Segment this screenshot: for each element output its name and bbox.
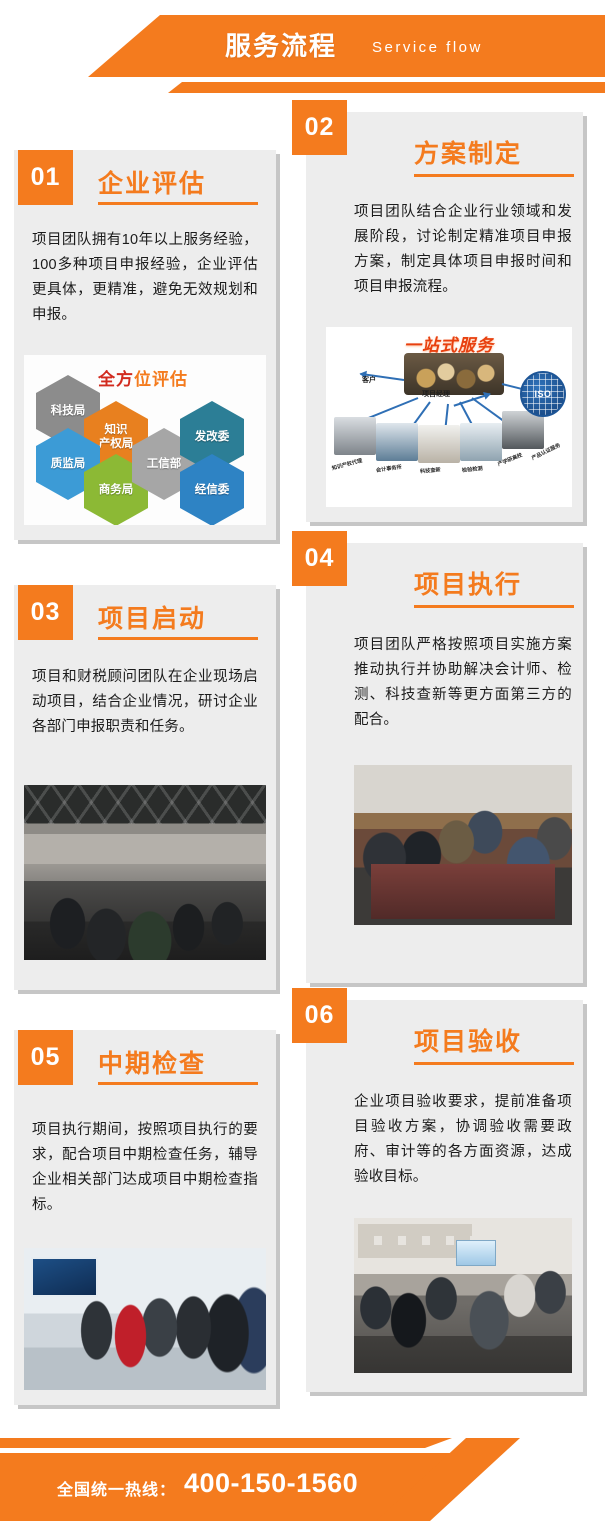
page-footer: 全国统一热线： 400-150-1560 [0,1424,605,1538]
title-underline [414,1062,574,1065]
hotline-number[interactable]: 400-150-1560 [184,1468,358,1499]
title-underline [98,202,258,205]
flow-node-testing [460,423,502,461]
step-card-02: 02 方案制定 项目团队结合企业行业领域和发展阶段，讨论制定精准项目申报方案，制… [306,112,583,522]
flow-node-search [418,425,460,463]
photo-meeting-room [24,785,266,960]
iso-certification-icon: ISO [520,371,566,417]
step-title: 项目执行 [414,565,522,601]
step-title: 中期检查 [98,1044,206,1080]
photo-acceptance-meeting [354,1218,572,1373]
step-card-06: 06 项目验收 企业项目验收要求，提前准备项目验收方案，协调验收需要政府、审计等… [306,1000,583,1392]
step-title: 方案制定 [414,134,522,170]
page-subtitle: Service flow [372,38,483,58]
step-card-03: 03 项目启动 项目和财税顾问团队在企业现场启动项目，结合企业情况，研讨企业各部… [14,585,276,990]
assessment-hex-diagram: 全方位评估 科技局 知识 产权局 质监局 商务局 工信部 发改委 经信委 [24,355,266,525]
title-underline [98,1082,258,1085]
hex-diagram-title: 全方位评估 [98,365,188,390]
title-underline [414,174,574,177]
hex-title-part2: 位评估 [134,370,188,389]
step-number-badge: 04 [292,531,347,586]
step-card-05: 05 中期检查 项目执行期间，按照项目执行的要求，配合项目中期检查任务，辅导企业… [14,1030,276,1405]
step-number-badge: 06 [292,988,347,1043]
header-orange-stripe [0,82,605,93]
flow-label-ip: 知识产权代理 [331,457,363,472]
page-title: 服务流程 [225,28,337,64]
title-underline [98,637,258,640]
step-description: 项目和财税顾问团队在企业现场启动项目，结合企业情况，研讨企业各部门申报职责和任务… [32,665,258,740]
step-description: 项目执行期间，按照项目执行的要求，配合项目中期检查任务，辅导企业相关部门达成项目… [32,1118,258,1218]
page-header: 服务流程 Service flow [0,0,605,112]
onestop-service-diagram: 一站式服务 客户 项目经理 ISO 知识产权代理 会计事务所 科技查新 检验检测… [326,327,572,507]
step-number-badge: 03 [18,585,73,640]
flow-node-university [502,411,544,449]
photo-working-meeting [354,765,572,925]
step-number-badge: 02 [292,100,347,155]
step-description: 项目团队拥有10年以上服务经验，100多种项目申报经验，企业评估更具体，更精准，… [32,228,258,328]
flow-label-testing: 检验检测 [462,465,483,474]
flow-node-accounting [376,423,418,461]
step-description: 项目团队严格按照项目实施方案推动执行并协助解决会计师、检测、科技查新等更方面第三… [354,633,572,733]
step-description: 项目团队结合企业行业领域和发展阶段，讨论制定精准项目申报方案，制定具体项目申报时… [354,200,572,300]
flow-label-accounting: 会计事务所 [376,463,403,474]
step-card-01: 01 企业评估 项目团队拥有10年以上服务经验，100多种项目申报经验，企业评估… [14,150,276,540]
flow-hub-photo [404,353,504,395]
title-underline [414,605,574,608]
step-title: 项目验收 [414,1022,522,1058]
step-card-04: 04 项目执行 项目团队严格按照项目实施方案推动执行并协助解决会计师、检测、科技… [306,543,583,983]
flow-manager-label: 项目经理 [422,389,450,399]
step-description: 企业项目验收要求，提前准备项目验收方案，协调验收需要政府、审计等的各方面资源，达… [354,1090,572,1190]
step-number-badge: 05 [18,1030,73,1085]
photo-site-visit [24,1248,266,1390]
flow-label-search: 科技查新 [420,466,441,475]
hex-title-part1: 全方 [98,370,134,389]
step-title: 企业评估 [98,164,206,200]
hotline-label: 全国统一热线： [57,1476,176,1500]
flow-node-ip [334,417,376,455]
flow-client-label: 客户 [362,375,376,385]
step-number-badge: 01 [18,150,73,205]
step-title: 项目启动 [98,599,206,635]
